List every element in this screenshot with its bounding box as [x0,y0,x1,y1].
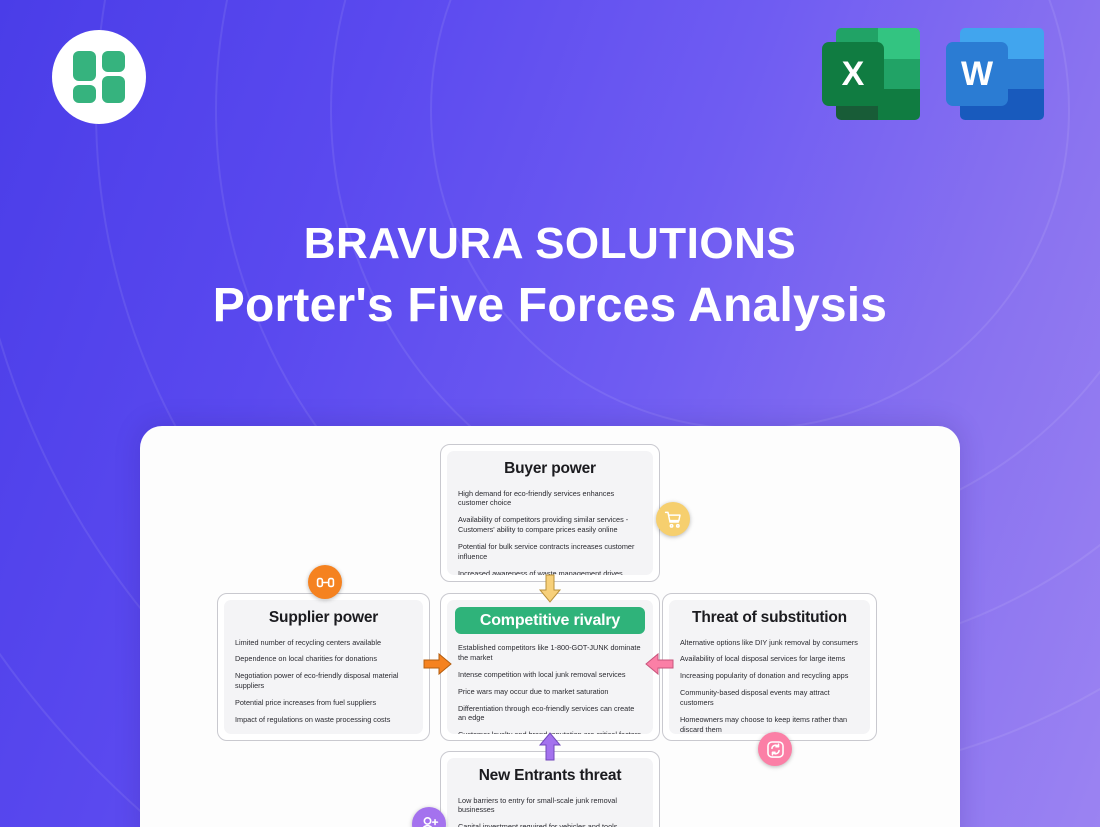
card-competitive-rivalry[interactable]: Competitive rivalry Established competit… [440,593,660,741]
export-format-icons: X W [822,28,1044,120]
arrow-right-icon [423,652,453,676]
card-substitution-points: Alternative options like DIY junk remova… [680,638,859,734]
arrow-left-icon [644,652,674,676]
chain-link-icon [308,565,342,599]
card-rivalry-inner: Competitive rivalry Established competit… [447,600,653,734]
list-item: Alternative options like DIY junk remova… [680,638,859,648]
card-substitution-title: Threat of substitution [680,609,859,628]
brand-logo [52,30,146,124]
card-buyer-inner: Buyer power High demand for eco-friendly… [447,451,653,575]
porters-five-forces-diagram: Buyer power High demand for eco-friendly… [140,426,960,827]
list-item: Potential price increases from fuel supp… [235,698,412,708]
card-entrants-title: New Entrants threat [458,767,642,786]
list-item: Homeowners may choose to keep items rath… [680,715,859,734]
list-item: Availability of local disposal services … [680,654,859,664]
card-buyer-power[interactable]: Buyer power High demand for eco-friendly… [440,444,660,582]
shopping-cart-icon [656,502,690,536]
list-item: Negotiation power of eco-friendly dispos… [235,671,412,691]
list-item: Availability of competitors providing si… [458,515,642,535]
list-item: High demand for eco-friendly services en… [458,489,642,509]
card-supplier-points: Limited number of recycling centers avai… [235,638,412,725]
list-item: Capital investment required for vehicles… [458,822,642,827]
card-rivalry-title: Competitive rivalry [455,607,645,634]
excel-icon[interactable]: X [822,28,920,120]
card-threat-of-substitution[interactable]: Threat of substitution Alternative optio… [662,593,877,741]
list-item: Increasing popularity of donation and re… [680,671,859,681]
list-item: Dependence on local charities for donati… [235,654,412,664]
arrow-down-icon [538,574,562,604]
list-item: Impact of regulations on waste processin… [235,715,412,725]
card-rivalry-points: Established competitors like 1-800-GOT-J… [458,643,642,734]
word-badge-letter: W [946,42,1008,106]
list-item: Intense competition with local junk remo… [458,670,642,680]
card-substitution-inner: Threat of substitution Alternative optio… [669,600,870,734]
list-item: Potential for bulk service contracts inc… [458,542,642,562]
card-buyer-points: High demand for eco-friendly services en… [458,489,642,575]
slide-canvas: X W BRAVURA SOLUTIONS Porter's Five Forc… [0,0,1100,827]
list-item: Community-based disposal events may attr… [680,688,859,708]
arrow-up-icon [538,731,562,761]
list-item: Limited number of recycling centers avai… [235,638,412,648]
card-supplier-title: Supplier power [235,609,412,628]
analysis-subtitle: Porter's Five Forces Analysis [0,276,1100,336]
word-icon[interactable]: W [946,28,1044,120]
grid-blocks-logo-icon [73,51,125,103]
card-supplier-power[interactable]: Supplier power Limited number of recycli… [217,593,430,741]
card-buyer-title: Buyer power [458,460,642,479]
refresh-sync-icon [758,732,792,766]
company-name: BRAVURA SOLUTIONS [0,218,1100,270]
excel-badge-letter: X [822,42,884,106]
card-supplier-inner: Supplier power Limited number of recycli… [224,600,423,734]
list-item: Differentiation through eco-friendly ser… [458,704,642,724]
card-new-entrants-threat[interactable]: New Entrants threat Low barriers to entr… [440,751,660,827]
diagram-panel: Buyer power High demand for eco-friendly… [140,426,960,827]
page-title: BRAVURA SOLUTIONS Porter's Five Forces A… [0,218,1100,336]
card-entrants-inner: New Entrants threat Low barriers to entr… [447,758,653,827]
list-item: Price wars may occur due to market satur… [458,687,642,697]
list-item: Low barriers to entry for small-scale ju… [458,796,642,816]
list-item: Established competitors like 1-800-GOT-J… [458,643,642,663]
card-entrants-points: Low barriers to entry for small-scale ju… [458,796,642,827]
